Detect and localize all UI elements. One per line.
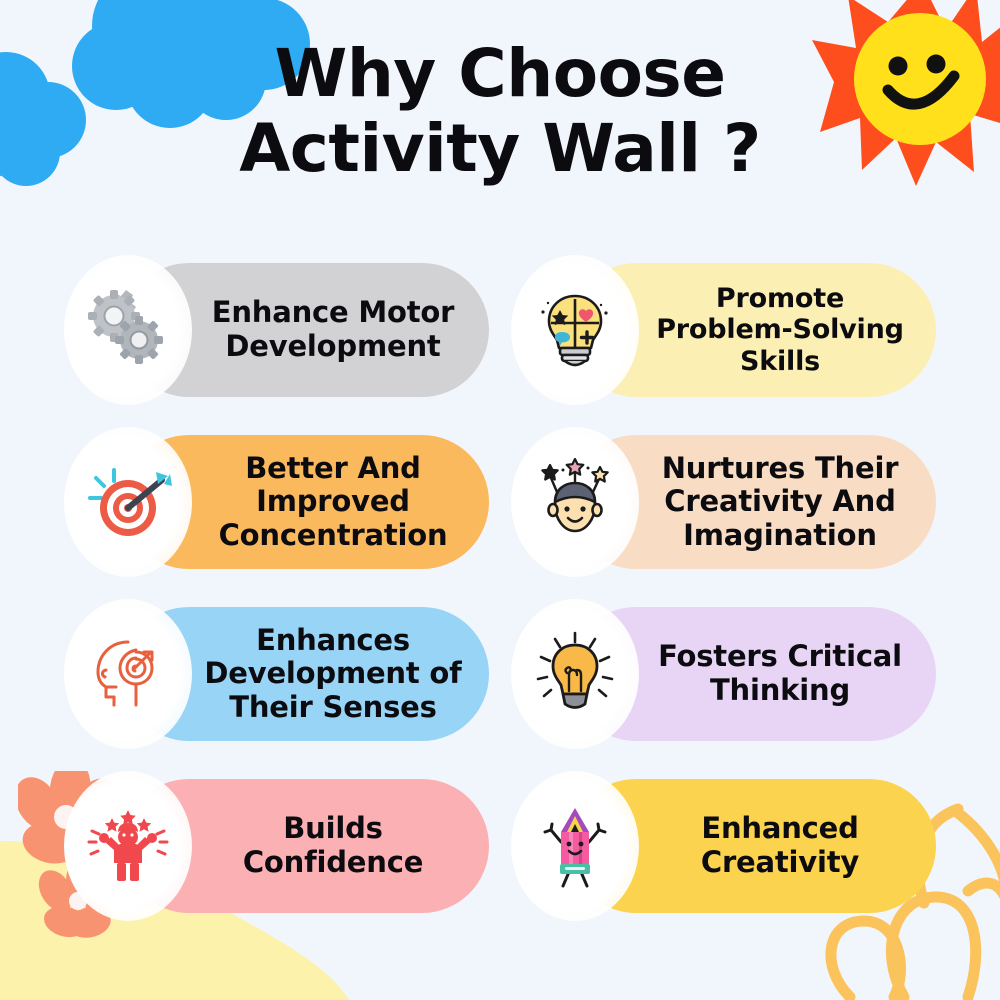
benefit-card-enhances-development-senses[interactable]: Enhances Development of Their Senses bbox=[64, 599, 489, 749]
head-target-icon bbox=[64, 599, 192, 749]
pencil-character-icon bbox=[511, 771, 639, 921]
benefit-label: Better And Improved Concentration bbox=[192, 452, 474, 553]
benefit-card-enhanced-creativity[interactable]: Enhanced Creativity bbox=[511, 771, 936, 921]
target-arrow-icon bbox=[64, 427, 192, 577]
page-title-line-1: Why Choose bbox=[275, 35, 726, 112]
benefit-label: Enhanced Creativity bbox=[639, 812, 921, 879]
lightbulb-rays-icon bbox=[511, 599, 639, 749]
child-face-stars-icon bbox=[511, 427, 639, 577]
benefit-label: Nurtures Their Creativity And Imaginatio… bbox=[639, 452, 921, 553]
page-title-line-2: Activity Wall ? bbox=[0, 111, 1000, 186]
benefit-card-enhance-motor-development[interactable]: Enhance Motor Development bbox=[64, 255, 489, 405]
cheering-child-icon bbox=[64, 771, 192, 921]
benefit-label: Promote Problem-Solving Skills bbox=[639, 283, 921, 377]
benefit-label: Fosters Critical Thinking bbox=[639, 640, 921, 707]
benefit-card-better-and-improved-concentration[interactable]: Better And Improved Concentration bbox=[64, 427, 489, 577]
infographic-canvas: Why Choose Activity Wall ? bbox=[0, 0, 1000, 1000]
benefit-label: Builds Confidence bbox=[192, 812, 474, 879]
benefit-label: Enhance Motor Development bbox=[192, 296, 474, 363]
benefits-grid: Enhance Motor Development bbox=[0, 255, 1000, 921]
benefit-card-builds-confidence[interactable]: Builds Confidence bbox=[64, 771, 489, 921]
puzzle-lightbulb-icon bbox=[511, 255, 639, 405]
gears-icon bbox=[64, 255, 192, 405]
benefit-card-promote-problem-solving-skills[interactable]: Promote Problem-Solving Skills bbox=[511, 255, 936, 405]
benefit-card-fosters-critical-thinking[interactable]: Fosters Critical Thinking bbox=[511, 599, 936, 749]
benefit-label: Enhances Development of Their Senses bbox=[192, 624, 474, 725]
page-title: Why Choose Activity Wall ? bbox=[0, 36, 1000, 186]
benefit-card-nurtures-creativity-imagination[interactable]: Nurtures Their Creativity And Imaginatio… bbox=[511, 427, 936, 577]
